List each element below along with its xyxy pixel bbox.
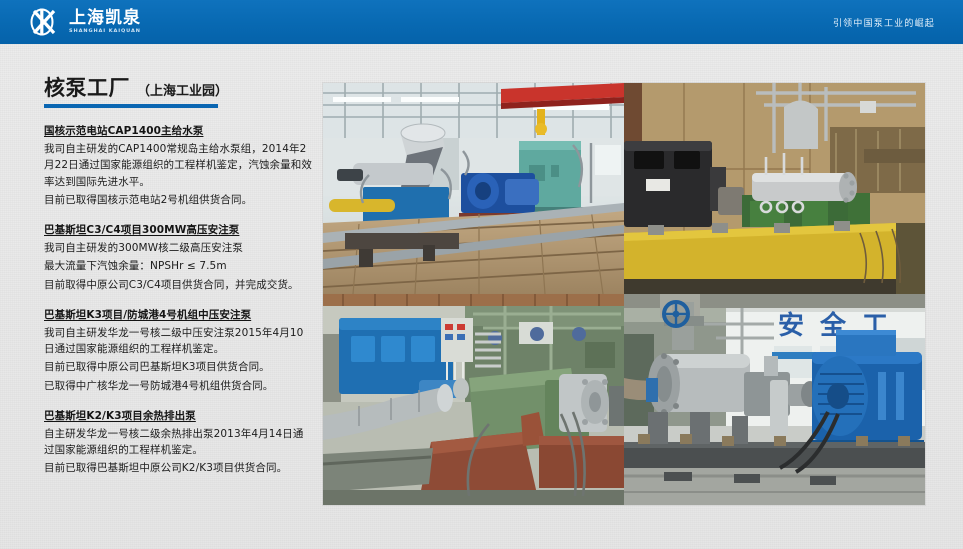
project-line: 目前已取得巴基斯坦中原公司K2/K3项目供货合同。 — [44, 460, 312, 476]
kaiquan-logo-icon — [28, 7, 62, 37]
photo-blue-motor-green-pump — [323, 294, 624, 505]
project-block-3: 巴基斯坦K3项目/防城港4号机组中压安注泵 我司自主研发华龙一号核二级中压安注泵… — [44, 307, 312, 394]
project-line: 目前已取得国核示范电站2号机组供货合同。 — [44, 192, 312, 208]
project-line: 目前取得中原公司C3/C4项目供货合同，并完成交货。 — [44, 277, 312, 293]
slide-canvas: 上海凯泉 SHANGHAI KAIQUAN 引领中国泵工业的崛起 核泵工厂 （上… — [0, 0, 963, 549]
project-heading: 巴基斯坦K2/K3项目余热排出泵 — [44, 408, 312, 423]
photo-blue-motor-steel-pump-image: 安全工 — [624, 294, 925, 505]
photo-factory-hall-blue-pump — [323, 83, 624, 294]
brand-logo[interactable]: 上海凯泉 SHANGHAI KAIQUAN — [28, 7, 141, 37]
brand-name-en: SHANGHAI KAIQUAN — [69, 29, 141, 34]
project-block-1: 国核示范电站CAP1400主给水泵 我司自主研发的CAP1400常规岛主给水泵组… — [44, 123, 312, 208]
project-line: 自主研发华龙一号核二级余热排出泵2013年4月14日通过国家能源组织的工程样机鉴… — [44, 426, 312, 459]
project-heading: 国核示范电站CAP1400主给水泵 — [44, 123, 312, 138]
brand-name-cn: 上海凯泉 — [69, 10, 141, 27]
project-block-2: 巴基斯坦C3/C4项目300MW高压安注泵 我司自主研发的300MW核二级高压安… — [44, 222, 312, 293]
project-line: 目前已取得中原公司巴基斯坦K3项目供货合同。 — [44, 359, 312, 375]
photo-grid: 安全工 — [323, 83, 925, 505]
project-line: 我司自主研发的CAP1400常规岛主给水泵组，2014年2月22日通过国家能源组… — [44, 141, 312, 190]
page-title-sub: （上海工业园） — [137, 85, 228, 99]
project-heading: 巴基斯坦C3/C4项目300MW高压安注泵 — [44, 222, 312, 237]
project-heading: 巴基斯坦K3项目/防城港4号机组中压安注泵 — [44, 307, 312, 322]
project-block-4: 巴基斯坦K2/K3项目余热排出泵 自主研发华龙一号核二级余热排出泵2013年4月… — [44, 408, 312, 477]
project-line: 我司自主研发华龙一号核二级中压安注泵2015年4月10日通过国家能源组织的工程样… — [44, 325, 312, 358]
project-line: 我司自主研发的300MW核二级高压安注泵 — [44, 240, 312, 256]
page-title-main: 核泵工厂 — [44, 78, 130, 99]
photo-blue-motor-green-pump-image — [323, 294, 624, 505]
svg-text:安: 安 — [778, 311, 804, 341]
content-left-column: 核泵工厂 （上海工业园） 国核示范电站CAP1400主给水泵 我司自主研发的CA… — [44, 78, 312, 491]
photo-dark-room-green-pump — [624, 83, 925, 294]
page-title: 核泵工厂 （上海工业园） — [44, 78, 312, 99]
page-header: 上海凯泉 SHANGHAI KAIQUAN 引领中国泵工业的崛起 — [0, 0, 963, 44]
photo-dark-room-green-pump-image — [624, 83, 925, 294]
project-line: 已取得中广核华龙一号防城港4号机组供货合同。 — [44, 378, 312, 394]
photo-blue-motor-steel-pump: 安全工 — [624, 294, 925, 505]
photo-factory-hall-blue-pump-image — [323, 83, 624, 294]
title-underline-rule — [44, 104, 218, 108]
project-line: 最大流量下汽蚀余量：NPSHr ≤ 7.5m — [44, 258, 312, 274]
header-tagline: 引领中国泵工业的崛起 — [833, 0, 935, 44]
